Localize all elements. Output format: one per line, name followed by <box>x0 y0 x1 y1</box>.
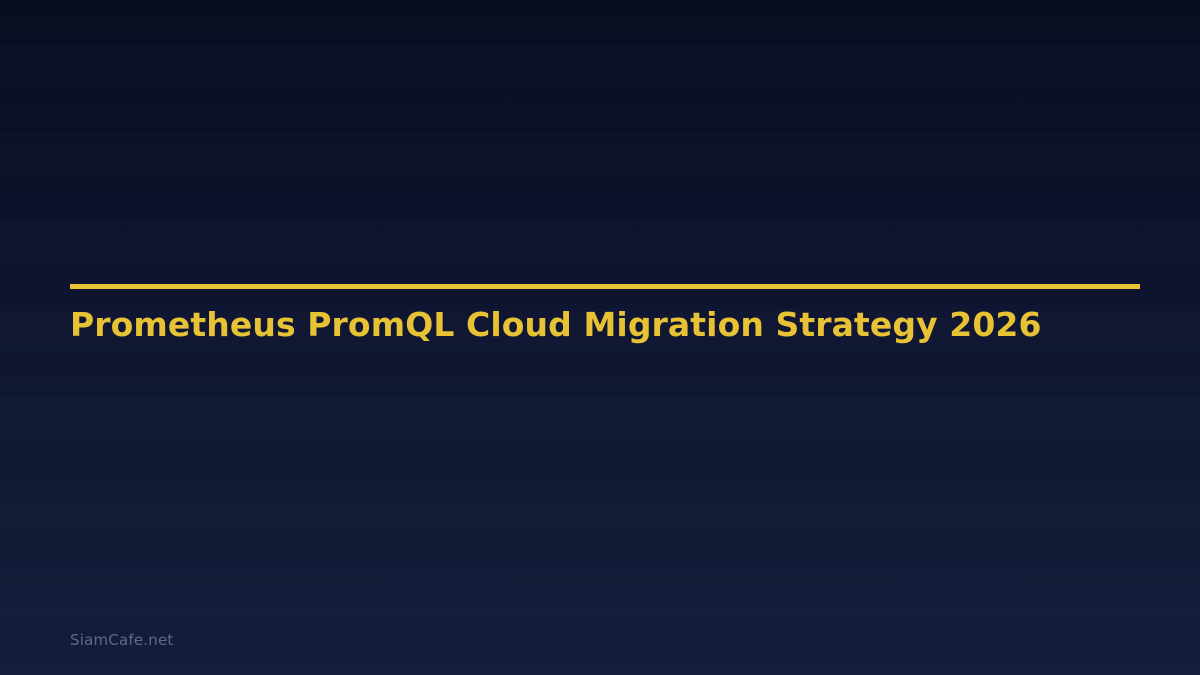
title-slide: Prometheus PromQL Cloud Migration Strate… <box>0 0 1200 675</box>
footer: SiamCafe.net <box>70 630 173 649</box>
footer-watermark: SiamCafe.net <box>70 631 173 649</box>
page-title: Prometheus PromQL Cloud Migration Strate… <box>70 289 1140 345</box>
title-block: Prometheus PromQL Cloud Migration Strate… <box>70 284 1140 345</box>
